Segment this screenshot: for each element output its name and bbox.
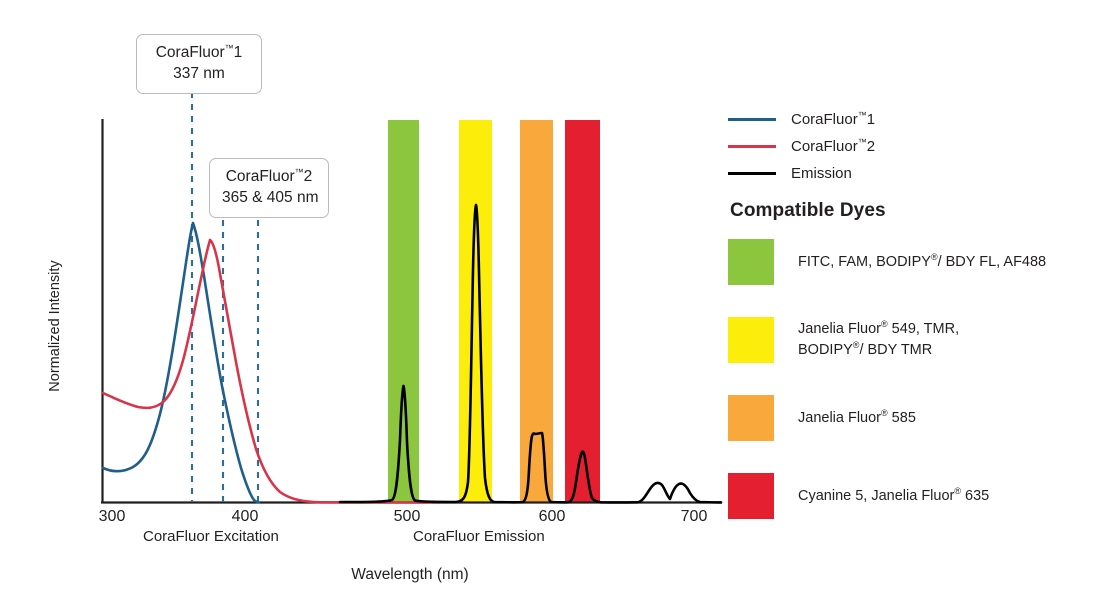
xtick-500: 500 xyxy=(377,508,437,526)
legend-item-corafluor1: CoraFluor™1 xyxy=(728,106,1098,133)
callout-corafluor2-line1: CoraFluor™2 xyxy=(222,166,316,187)
callout-corafluor1: CoraFluor™1 337 nm xyxy=(136,34,262,94)
dye-label-green: FITC, FAM, BODIPY®/ BDY FL, AF488 xyxy=(798,252,1046,273)
dye-swatch-orange xyxy=(728,395,774,441)
legend-label-emission: Emission xyxy=(791,165,852,182)
xtick-300: 300 xyxy=(82,508,142,526)
dye-item-red: Cyanine 5, Janelia Fluor® 635 xyxy=(728,468,1108,524)
xtick-600: 600 xyxy=(522,508,582,526)
legend-label-corafluor1: CoraFluor™1 xyxy=(791,111,875,128)
excitation-range-label: CoraFluor Excitation xyxy=(143,528,279,545)
callout-corafluor2: CoraFluor™2 365 & 405 nm xyxy=(209,158,329,218)
band-yellow xyxy=(459,120,492,502)
dye-item-orange: Janelia Fluor® 585 xyxy=(728,390,1108,446)
xtick-700: 700 xyxy=(664,508,724,526)
band-green xyxy=(388,120,419,502)
legend-line-corafluor2 xyxy=(728,145,776,148)
y-axis-label: Normalized Intensity xyxy=(47,236,63,416)
legend-item-corafluor2: CoraFluor™2 xyxy=(728,133,1098,160)
dye-swatch-yellow xyxy=(728,317,774,363)
compatible-dyes-list: FITC, FAM, BODIPY®/ BDY FL, AF488 Janeli… xyxy=(728,234,1108,546)
dye-label-yellow: Janelia Fluor® 549, TMR, BODIPY®/ BDY TM… xyxy=(798,319,959,360)
compatible-dyes-title: Compatible Dyes xyxy=(730,200,886,222)
band-orange xyxy=(520,120,553,502)
callout-corafluor1-line2: 337 nm xyxy=(149,63,249,84)
xtick-400: 400 xyxy=(215,508,275,526)
emission-filter-bands xyxy=(388,120,600,502)
dye-swatch-green xyxy=(728,239,774,285)
dye-label-red: Cyanine 5, Janelia Fluor® 635 xyxy=(798,486,989,507)
spectra-figure: CoraFluor™1 337 nm CoraFluor™2 365 & 405… xyxy=(0,0,1110,612)
emission-range-label: CoraFluor Emission xyxy=(413,528,545,545)
band-red xyxy=(565,120,600,502)
legend-line-corafluor1 xyxy=(728,118,776,121)
dye-item-yellow: Janelia Fluor® 549, TMR, BODIPY®/ BDY TM… xyxy=(728,312,1108,368)
dye-label-orange: Janelia Fluor® 585 xyxy=(798,408,916,429)
series-legend: CoraFluor™1 CoraFluor™2 Emission xyxy=(728,106,1098,187)
dye-swatch-red xyxy=(728,473,774,519)
legend-item-emission: Emission xyxy=(728,160,1098,187)
legend-line-emission xyxy=(728,172,776,175)
x-axis-label: Wavelength (nm) xyxy=(0,566,820,584)
legend-label-corafluor2: CoraFluor™2 xyxy=(791,138,875,155)
callout-corafluor1-line1: CoraFluor™1 xyxy=(149,42,249,63)
callout-corafluor2-line2: 365 & 405 nm xyxy=(222,187,316,208)
dye-item-green: FITC, FAM, BODIPY®/ BDY FL, AF488 xyxy=(728,234,1108,290)
